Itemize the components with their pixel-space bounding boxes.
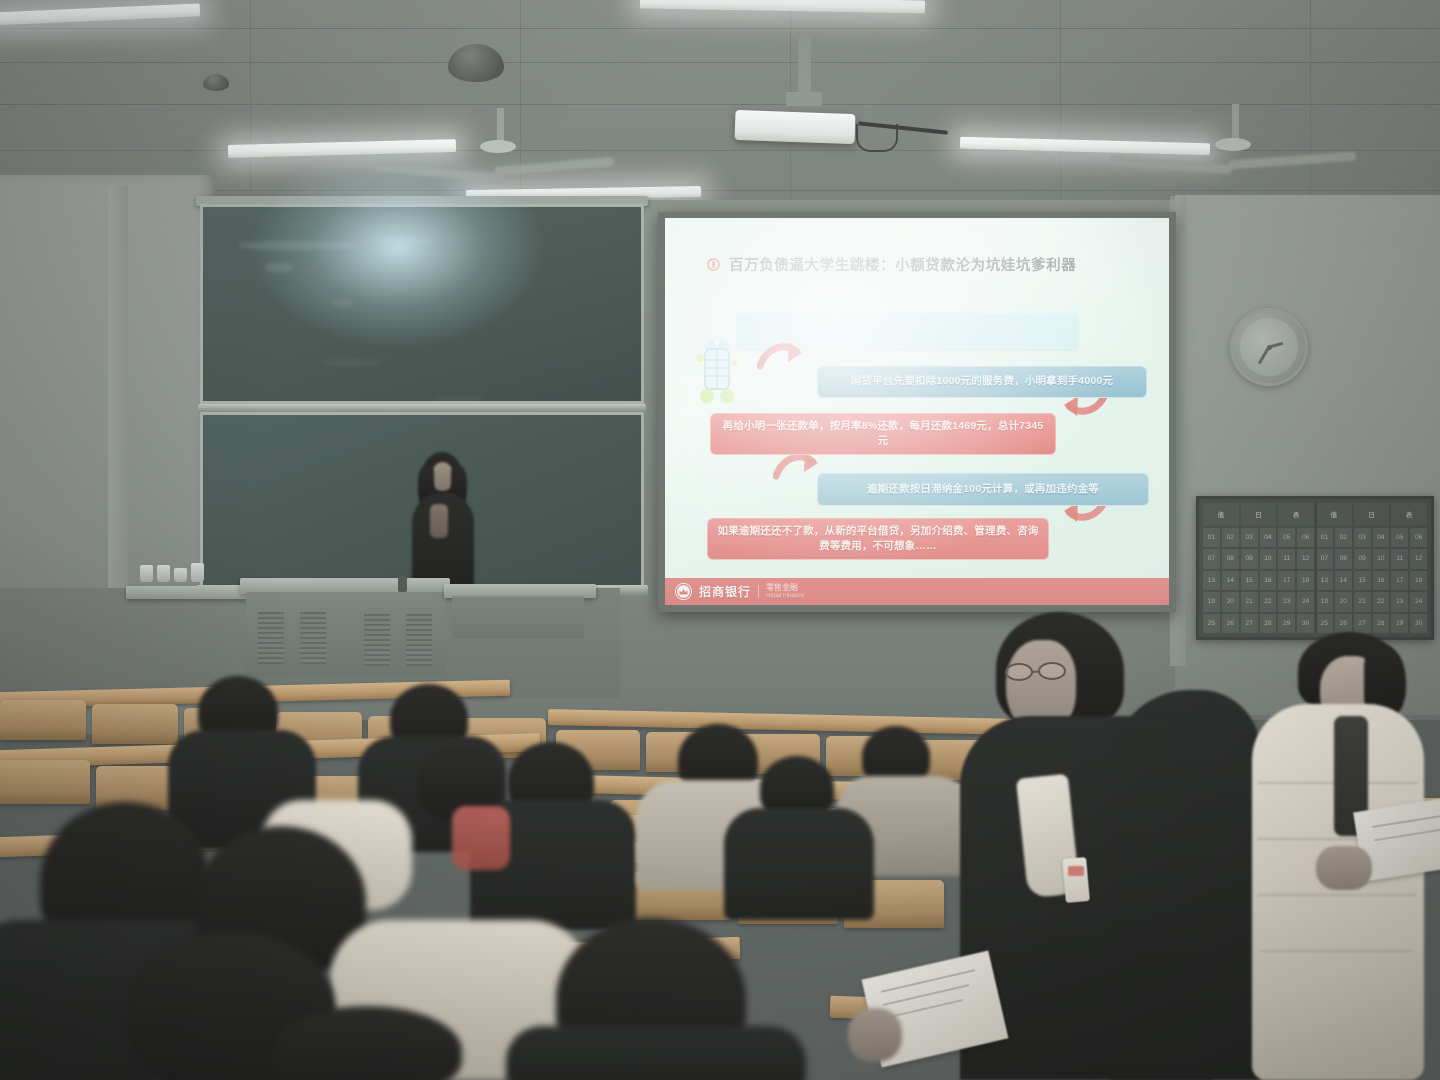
duty-cell: 16 [1373,571,1390,591]
duty-cell: 07 [1316,549,1333,569]
id-badge [1062,857,1090,903]
duty-cell: 10 [1373,549,1390,569]
duty-cell: 02 [1222,528,1239,548]
duty-cell: 29 [1391,614,1408,634]
duty-cell: 05 [1278,528,1295,548]
duty-header-cell: 表 [1391,503,1427,526]
dome-camera-1 [203,74,229,91]
audience-body [724,808,874,920]
lecture-hall-photo: 百万负债逼大学生跳楼：小额贷款沦为坑娃坑爹利器 [0,0,1440,1080]
duty-cell: 18 [1297,571,1314,591]
duty-cell: 25 [1316,614,1333,634]
projection-screen: 百万负债逼大学生跳楼：小额贷款沦为坑娃坑爹利器 [658,212,1176,612]
flame-bullet-icon [707,258,720,271]
duty-cell: 18 [1410,571,1427,591]
slide-step-2: 再给小明一张还款单，按月率8%还款，每月还款1469元，总计7345元 [710,413,1056,455]
duty-cell: 22 [1260,592,1277,612]
duty-cell: 30 [1410,614,1427,634]
duty-cell: 03 [1241,528,1258,548]
duty-cell: 04 [1260,528,1277,548]
duty-cell: 15 [1241,571,1258,591]
duty-cell: 21 [1354,592,1371,612]
standing-woman-white-coat [1246,632,1440,1080]
duty-cell: 03 [1354,528,1371,548]
duty-cell: 05 [1391,528,1408,548]
duty-header-cell: 日 [1241,503,1277,526]
eyeglasses-icon [1004,662,1070,682]
slide-step-3-text: 逾期还款按日滞纳金100元计算，或再加违约金等 [867,482,1099,497]
duty-cell: 02 [1335,528,1352,548]
duty-cell: 27 [1354,614,1371,634]
duty-cell: 24 [1297,592,1314,612]
duty-cell: 23 [1278,592,1295,612]
audience-body [506,1026,806,1080]
wall-clock [1230,308,1308,386]
duty-cell: 08 [1222,549,1239,569]
presenter-at-blackboard [404,452,484,592]
seat-chair [0,700,86,740]
duty-cell: 17 [1391,571,1408,591]
duty-cell: 07 [1203,549,1220,569]
duty-cell: 10 [1260,549,1277,569]
duty-cell: 04 [1373,528,1390,548]
brand-divider [758,585,759,598]
standing-person-with-glasses [960,608,1260,1080]
duty-cell: 13 [1203,571,1220,591]
robot-mascot-icon [689,336,745,408]
duty-cell: 14 [1335,571,1352,591]
audience-red-scarf [452,806,510,870]
slide-step-2-text: 再给小明一张还款单，按月率8%还款，每月还款1469元，总计7345元 [720,419,1046,449]
duty-cell: 06 [1297,528,1314,548]
slide-step-4-text: 如果逾期还还不了款，从新的平台借贷，另加介绍费、管理费、咨询费等费用，不可想象…… [717,524,1039,554]
duty-cell: 15 [1354,571,1371,591]
seat-chair [92,704,178,744]
duty-header-cell: 表 [1278,503,1314,526]
ceiling-light-4 [960,137,1210,156]
duty-cell: 01 [1203,528,1220,548]
duty-cell: 22 [1373,592,1390,612]
duty-cell: 23 [1391,592,1408,612]
duty-cell: 14 [1222,571,1239,591]
brand-sub-cn: 零售金融 [766,583,804,592]
podium-cups [140,563,204,582]
blackboard-panel-upper [200,204,644,404]
duty-cell: 09 [1241,549,1258,569]
slide-heading-text: 百万负债逼大学生跳楼：小额贷款沦为坑娃坑爹利器 [729,254,1076,275]
duty-cell: 06 [1410,528,1427,548]
ceiling [0,0,1440,210]
ceiling-light-1 [0,3,200,25]
duty-cell: 28 [1373,614,1390,634]
slide-heading-row: 百万负债逼大学生跳楼：小额贷款沦为坑娃坑爹利器 [707,254,1076,275]
duty-cell: 13 [1316,571,1333,591]
seat-chair [0,760,90,804]
duty-cell: 01 [1316,528,1333,548]
presentation-slide: 百万负债逼大学生跳楼：小额贷款沦为坑娃坑爹利器 [665,218,1169,605]
arrow-1-icon [757,340,803,374]
duty-cell: 28 [1260,614,1277,634]
duty-cell: 19 [1316,592,1333,612]
bank-name: 招商银行 [699,583,751,600]
china-merchants-bank-logo [675,583,692,600]
ceiling-light-2 [228,139,456,158]
duty-header-cell: 值 [1316,503,1352,526]
ceiling-light-3 [640,0,925,13]
duty-header-cell: 日 [1354,503,1390,526]
duty-cell: 26 [1335,614,1352,634]
duty-cell: 11 [1391,549,1408,569]
slide-step-4: 如果逾期还还不了款，从新的平台借贷，另加介绍费、管理费、咨询费等费用，不可想象…… [707,518,1049,560]
duty-cell: 09 [1354,549,1371,569]
arrow-3-icon [773,450,819,484]
slide-step-1-text: 网贷平台先要扣除1000元的服务费，小明拿到手4000元 [851,374,1113,389]
duty-cell: 30 [1297,614,1314,634]
duty-cell: 16 [1260,571,1277,591]
duty-cell: 12 [1297,549,1314,569]
duty-cell: 24 [1410,592,1427,612]
slide-step-1: 网贷平台先要扣除1000元的服务费，小明拿到手4000元 [817,366,1147,398]
duty-header-cell: 值 [1203,503,1239,526]
duty-cell: 29 [1278,614,1295,634]
brand-sub-en: Retail Finance [766,593,804,600]
clock-face [1240,318,1298,376]
duty-cell: 17 [1278,571,1295,591]
duty-cell: 20 [1335,592,1352,612]
duty-cell: 12 [1410,549,1427,569]
duty-cell: 08 [1335,549,1352,569]
slide-step-3: 逾期还款按日滞纳金100元计算，或再加违约金等 [817,473,1149,506]
slide-footer-brand: 招商银行 零售金融 Retail Finance [665,578,1169,605]
dome-camera-2 [448,44,504,82]
duty-cell: 11 [1278,549,1295,569]
